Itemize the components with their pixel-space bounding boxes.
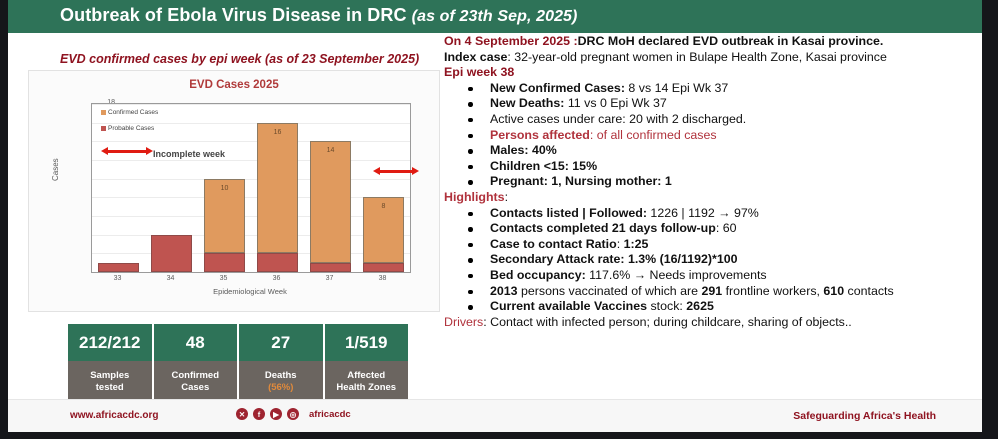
chart-bar-probable	[98, 263, 139, 272]
page-title-date: (as of 23th Sep, 2025)	[412, 8, 578, 25]
chart-bar-probable	[204, 253, 245, 272]
stat-label-line1: Affected	[347, 370, 385, 382]
chart-gridline	[92, 141, 410, 142]
chart-gridline	[92, 104, 410, 105]
bullet-item: Active cases under care: 20 with 2 disch…	[490, 112, 974, 128]
chart-x-tick: 33	[91, 275, 144, 282]
chart-bar-probable	[363, 263, 404, 272]
index-case-text: : 32-year-old pregnant women in Bulape H…	[507, 50, 887, 64]
chart-bar-value: 10	[204, 185, 245, 192]
bullet-item: Males: 40%	[490, 143, 974, 159]
drivers-text: : Contact with infected person; during c…	[483, 315, 851, 329]
stat-label-line1: Confirmed	[172, 370, 220, 382]
bullet-item: Secondary Attack rate: 1.3% (16/1192)*10…	[490, 252, 974, 268]
chart-legend-item: Confirmed Cases	[101, 109, 158, 116]
bullet-item: New Confirmed Cases: 8 vs 14 Epi Wk 37	[490, 81, 974, 97]
incomplete-week-label: Incomplete week	[153, 149, 225, 159]
stat-box: 212/212Samplestested	[68, 324, 154, 402]
stat-value: 1/519	[325, 324, 409, 361]
bullet-text: Pregnant: 1, Nursing mother: 1	[490, 174, 672, 188]
page-title-main: Outbreak of Ebola Virus Disease in DRC	[60, 5, 412, 25]
chart-x-axis-label: Epidemiological Week	[91, 287, 409, 296]
bullet-text: Bed occupancy:	[490, 268, 586, 282]
bullet-item: 2013 persons vaccinated of which are 291…	[490, 284, 974, 300]
lead-statement: On 4 September 2025 :DRC MoH declared EV…	[444, 34, 974, 50]
chart-bar-value: 16	[257, 129, 298, 136]
slide-footer: www.africacdc.org ✕f▶◎africacdc Safeguar…	[8, 399, 982, 432]
bullet-text: stock:	[647, 299, 686, 313]
stat-label-line1: Deaths	[265, 370, 297, 382]
bullet-text: Contacts completed 21 days follow-up	[490, 221, 716, 235]
bullet-text: persons vaccinated of which are	[518, 284, 702, 298]
bullet-text: contacts	[844, 284, 894, 298]
stat-value: 212/212	[68, 324, 152, 361]
chart-legend-label: Probable Cases	[108, 125, 154, 132]
stat-label: Deaths(56%)	[239, 361, 323, 402]
stat-box: 1/519AffectedHealth Zones	[325, 324, 409, 402]
chart-x-tick: 36	[250, 275, 303, 282]
bullet-text: New Deaths:	[490, 96, 564, 110]
stat-value: 27	[239, 324, 323, 361]
chart-legend: Confirmed CasesProbable Cases	[101, 109, 158, 141]
youtube-icon[interactable]: ▶	[270, 408, 282, 420]
stat-box: 27Deaths(56%)	[239, 324, 325, 402]
epi-week-bullets: New Confirmed Cases: 8 vs 14 Epi Wk 37Ne…	[444, 81, 974, 190]
x-icon[interactable]: ✕	[236, 408, 248, 420]
bullet-text: 610	[823, 284, 844, 298]
highlights-bullets: Contacts listed | Followed: 1226 | 1192 …	[444, 206, 974, 315]
bullet-item: Contacts listed | Followed: 1226 | 1192 …	[490, 206, 974, 222]
instagram-icon[interactable]: ◎	[287, 408, 299, 420]
bullet-text: Contacts listed | Followed:	[490, 206, 647, 220]
social-handle: africacdc	[309, 409, 351, 420]
highlights-colon: :	[505, 190, 508, 204]
bullet-item: Contacts completed 21 days follow-up: 60	[490, 221, 974, 237]
bullet-text: 8 vs 14 Epi Wk 37	[625, 81, 728, 95]
index-case-label: Index case	[444, 50, 507, 64]
left-column: EVD confirmed cases by epi week (as of 2…	[20, 36, 440, 396]
drivers-label: Drivers	[444, 315, 483, 329]
chart-x-tick: 35	[197, 275, 250, 282]
bullet-text: frontline workers,	[722, 284, 823, 298]
bullet-text: 1226 | 1192 → 97%	[647, 206, 759, 220]
bullet-text: 291	[701, 284, 722, 298]
bullet-text: Case to contact Ratio	[490, 237, 617, 251]
bullet-text: Males: 40%	[490, 143, 557, 157]
chart-title: EVD Cases 2025	[29, 79, 439, 91]
chart-y-axis-label: Cases	[51, 158, 60, 181]
chart-gridline	[92, 160, 410, 161]
stat-label-line2: Health Zones	[336, 382, 396, 394]
chart-legend-label: Confirmed Cases	[108, 109, 158, 116]
bullet-text: : of all confirmed cases	[590, 128, 717, 142]
bullet-item: Current available Vaccines stock: 2625	[490, 299, 974, 315]
bullet-item: Pregnant: 1, Nursing mother: 1	[490, 174, 974, 190]
chart-bar-confirmed	[257, 123, 298, 254]
bullet-text: Persons affected	[490, 128, 590, 142]
chart-x-tick: 37	[303, 275, 356, 282]
bullet-item: Case to contact Ratio: 1:25	[490, 237, 974, 253]
stat-label-line2: tested	[96, 382, 124, 394]
chart-x-tick: 34	[144, 275, 197, 282]
stat-label-line2: Cases	[181, 382, 209, 394]
bullet-text: Secondary Attack rate: 1.3% (16/1192)*10…	[490, 252, 738, 266]
bullet-text: New Confirmed Cases:	[490, 81, 625, 95]
chart-x-tick: 38	[356, 275, 409, 282]
epi-week-heading: Epi week 38	[444, 65, 974, 81]
social-links: ✕f▶◎africacdc	[236, 408, 351, 420]
right-column: On 4 September 2025 :DRC MoH declared EV…	[444, 34, 974, 402]
bullet-text: :	[617, 237, 624, 251]
index-case-line: Index case: 32-year-old pregnant women i…	[444, 50, 974, 66]
highlights-label: Highlights	[444, 190, 505, 204]
bullet-text: 1:25	[624, 237, 649, 251]
stat-label: ConfirmedCases	[154, 361, 238, 402]
highlights-heading: Highlights:	[444, 190, 974, 206]
slide-header: Outbreak of Ebola Virus Disease in DRC (…	[8, 0, 982, 33]
chart-gridline	[92, 179, 410, 180]
bullet-text: 2625	[686, 299, 714, 313]
bullet-text: 11 vs 0 Epi Wk 37	[564, 96, 666, 110]
page-title: Outbreak of Ebola Virus Disease in DRC (…	[60, 5, 578, 26]
stat-value: 48	[154, 324, 238, 361]
chart-bar-value: 14	[310, 147, 351, 154]
chart-legend-item: Probable Cases	[101, 125, 158, 132]
stat-box: 48ConfirmedCases	[154, 324, 240, 402]
website-url[interactable]: www.africacdc.org	[70, 410, 159, 421]
bullet-text: Children <15: 15%	[490, 159, 597, 173]
legend-swatch	[101, 126, 106, 131]
facebook-icon[interactable]: f	[253, 408, 265, 420]
bullet-text: Active cases under care: 20 with 2 disch…	[490, 112, 746, 126]
lead-date: On 4 September 2025 :	[444, 34, 578, 48]
chart-bar-value: 8	[363, 203, 404, 210]
stat-label: AffectedHealth Zones	[325, 361, 409, 402]
slide-content: Outbreak of Ebola Virus Disease in DRC (…	[8, 0, 982, 431]
tagline: Safeguarding Africa's Health	[793, 410, 936, 422]
summary-stats: 212/212Samplestested48ConfirmedCases27De…	[68, 324, 408, 402]
bullet-item: Persons affected: of all confirmed cases	[490, 128, 974, 144]
legend-swatch	[101, 110, 106, 115]
drivers-line: Drivers: Contact with infected person; d…	[444, 315, 974, 331]
bullet-text: 117.6% → Needs improvements	[586, 268, 767, 282]
chart-bar-probable	[310, 263, 351, 272]
bullet-item: New Deaths: 11 vs 0 Epi Wk 37	[490, 96, 974, 112]
chart-card: EVD Cases 2025 Cases 024681012141618 101…	[28, 70, 440, 312]
stat-label-line1: Samples	[90, 370, 129, 382]
week38-arrow	[373, 167, 419, 176]
chart-bar-confirmed	[310, 141, 351, 262]
bullet-text: Current available Vaccines	[490, 299, 647, 313]
bullet-item: Bed occupancy: 117.6% → Needs improvemen…	[490, 268, 974, 284]
bullet-text: : 60	[716, 221, 737, 235]
chart-bar-probable	[151, 235, 192, 272]
chart-caption: EVD confirmed cases by epi week (as of 2…	[60, 52, 460, 66]
lead-text: DRC MoH declared EVD outbreak in Kasai p…	[578, 34, 884, 48]
stat-label: Samplestested	[68, 361, 152, 402]
incomplete-week-arrow	[101, 147, 153, 156]
stat-label-line2: (56%)	[268, 382, 293, 394]
bullet-text: 2013	[490, 284, 518, 298]
bullet-item: Children <15: 15%	[490, 159, 974, 175]
slide-frame: Outbreak of Ebola Virus Disease in DRC (…	[0, 0, 998, 439]
chart-bar-probable	[257, 253, 298, 272]
